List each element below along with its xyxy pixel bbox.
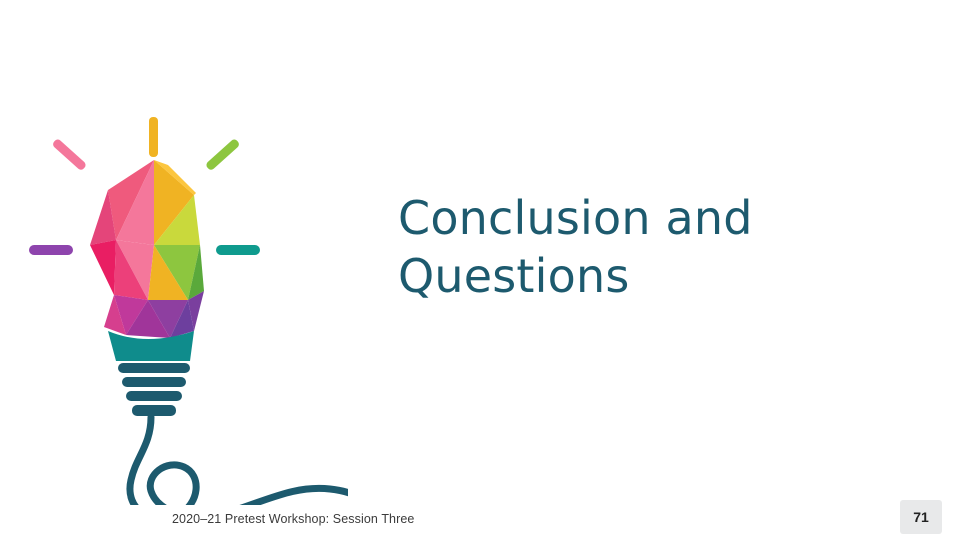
bulb-ray-left-purple <box>29 245 73 255</box>
bulb-ray-right-green <box>205 138 241 171</box>
slide: Conclusion and Questions 2020–21 Pretest… <box>0 0 960 540</box>
title-line-1: Conclusion and <box>398 190 868 248</box>
page-number-badge: 71 <box>900 500 942 534</box>
bulb-ray-left-pink <box>51 138 87 171</box>
page-title: Conclusion and Questions <box>398 190 868 305</box>
bulb-base <box>118 363 190 416</box>
lightbulb-illustration <box>18 95 348 505</box>
bulb-ray-top-yellow <box>149 117 158 157</box>
footer-label: 2020–21 Pretest Workshop: Session Three <box>172 512 414 526</box>
bulb-ray-right-teal <box>216 245 260 255</box>
bulb-cord <box>130 417 348 505</box>
page-number: 71 <box>913 509 929 525</box>
bulb-glass <box>90 160 208 361</box>
title-line-2: Questions <box>398 248 868 306</box>
